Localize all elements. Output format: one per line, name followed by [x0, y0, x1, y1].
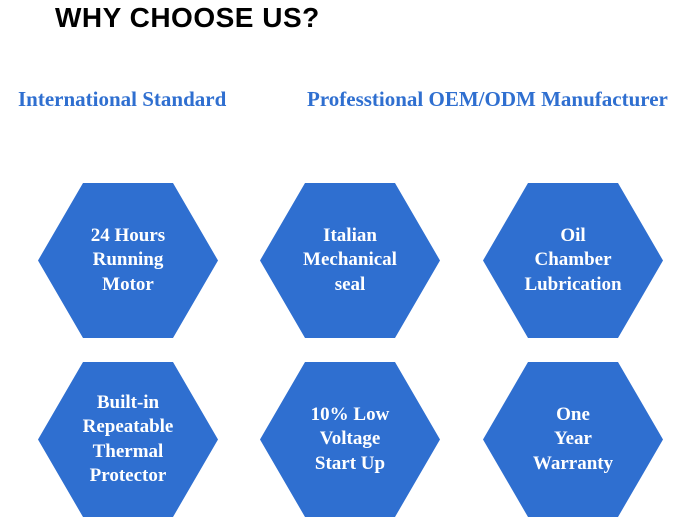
feature-hexagon-10-percent-low-voltage-start-up: 10% Low Voltage Start Up: [260, 362, 440, 517]
feature-hexagon-oil-chamber-lubrication: Oil Chamber Lubrication: [483, 183, 663, 338]
feature-hexagon-italian-mechanical-seal: Italian Mechanical seal: [260, 183, 440, 338]
feature-hexagon-grid: 24 Hours Running Motor Italian Mechanica…: [0, 0, 700, 528]
feature-hexagon-label: Italian Mechanical seal: [289, 224, 411, 297]
feature-hexagon-one-year-warranty: One Year Warranty: [483, 362, 663, 517]
feature-hexagon-label: Oil Chamber Lubrication: [510, 224, 635, 297]
feature-hexagon-built-in-repeatable-thermal-protector: Built-in Repeatable Thermal Protector: [38, 362, 218, 517]
feature-hexagon-label: One Year Warranty: [519, 403, 627, 476]
feature-hexagon-label: Built-in Repeatable Thermal Protector: [69, 391, 188, 488]
feature-hexagon-24-hours-running-motor: 24 Hours Running Motor: [38, 183, 218, 338]
feature-hexagon-label: 24 Hours Running Motor: [77, 224, 179, 297]
slide-canvas: WHY CHOOSE US? International Standard Pr…: [0, 0, 700, 528]
feature-hexagon-label: 10% Low Voltage Start Up: [297, 403, 404, 476]
